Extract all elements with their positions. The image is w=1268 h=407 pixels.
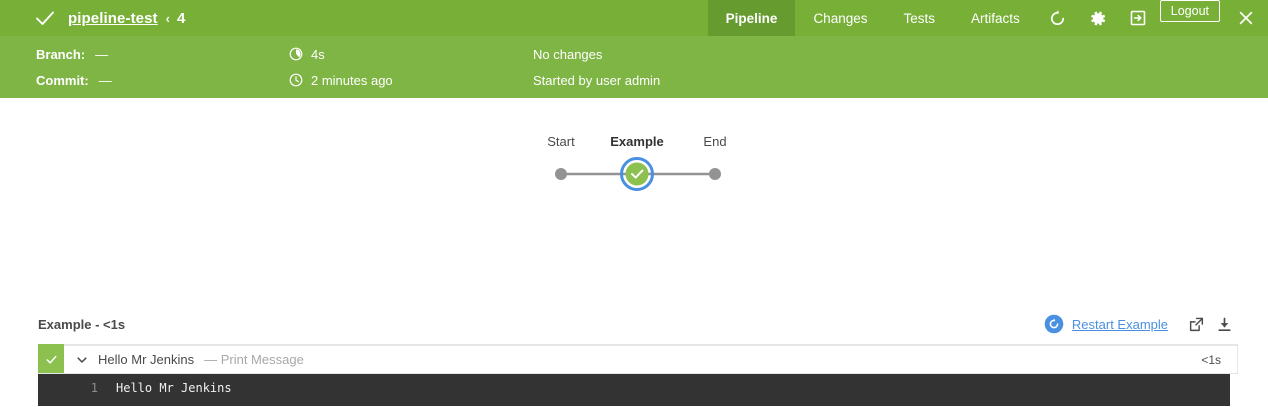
tab-pipeline[interactable]: Pipeline — [708, 0, 796, 36]
stage-label-end: End — [703, 134, 726, 149]
step-name: Hello Mr Jenkins — [98, 352, 194, 367]
branch-value: — — [95, 47, 108, 62]
settings-button[interactable] — [1078, 0, 1118, 36]
changes-row: No changes — [533, 41, 1268, 67]
close-button[interactable] — [1224, 0, 1268, 36]
log-section: Example - <1s Restart Example — [0, 304, 1268, 406]
log-header: Example - <1s Restart Example — [0, 304, 1268, 344]
run-info-bar: Branch: — Commit: — 4s 2 minutes ago No … — [0, 36, 1268, 98]
step-duration: <1s — [1201, 346, 1238, 373]
open-log-external-button[interactable] — [1182, 313, 1210, 335]
check-icon — [34, 7, 56, 29]
duration-row: 4s — [289, 41, 533, 67]
run-header-left: pipeline-test ‹ 4 — [0, 0, 708, 36]
graph-node-end[interactable] — [709, 168, 721, 180]
start-time-row: 2 minutes ago — [289, 67, 533, 93]
run-header: pipeline-test ‹ 4 Pipeline Changes Tests… — [0, 0, 1268, 36]
console-output[interactable]: 1 Hello Mr Jenkins — [38, 374, 1230, 406]
run-id: 4 — [177, 10, 185, 27]
step-row[interactable]: Hello Mr Jenkins — Print Message <1s — [38, 346, 1238, 374]
changes-text: No changes — [533, 47, 602, 62]
console-line-text: Hello Mr Jenkins — [106, 380, 232, 396]
graph-node-example[interactable] — [626, 163, 649, 186]
commit-value: — — [99, 73, 112, 88]
close-icon — [1237, 9, 1255, 27]
external-link-icon — [1188, 316, 1205, 333]
graph-node-start[interactable] — [555, 168, 567, 180]
info-column-timing: 4s 2 minutes ago — [289, 36, 533, 98]
replay-icon — [1048, 9, 1067, 28]
restart-circle-icon[interactable] — [1044, 314, 1064, 334]
cause-row: Started by user admin — [533, 67, 1268, 93]
pipeline-name-link[interactable]: pipeline-test — [68, 10, 158, 27]
run-header-right: Pipeline Changes Tests Artifacts Logout — [708, 0, 1268, 36]
stage-label-start: Start — [547, 134, 574, 149]
pipeline-graph: Start Example End — [539, 134, 729, 194]
check-icon — [45, 353, 58, 366]
start-time-value: 2 minutes ago — [311, 73, 393, 88]
chevron-down-icon[interactable] — [76, 354, 88, 366]
log-header-divider — [38, 344, 1238, 346]
cause-text: Started by user admin — [533, 73, 660, 88]
clock-icon — [289, 73, 303, 87]
download-log-button[interactable] — [1210, 313, 1238, 335]
gear-icon — [1088, 9, 1107, 28]
commit-row: Commit: — — [36, 67, 289, 93]
console-line-number: 1 — [38, 380, 106, 396]
duration-value: 4s — [311, 47, 325, 62]
branch-label: Branch: — [36, 47, 85, 62]
pipeline-graph-svg — [539, 154, 729, 194]
login-arrow-icon — [1129, 9, 1147, 27]
step-body[interactable]: Hello Mr Jenkins — Print Message — [64, 346, 1201, 373]
console-line: 1 Hello Mr Jenkins — [38, 380, 1230, 396]
tab-artifacts[interactable]: Artifacts — [953, 0, 1038, 36]
duration-icon — [289, 47, 303, 61]
breadcrumb-separator: ‹ — [166, 11, 170, 26]
rerun-button[interactable] — [1038, 0, 1078, 36]
step-status — [38, 346, 64, 373]
login-button[interactable] — [1118, 0, 1158, 36]
info-column-source: Branch: — Commit: — — [36, 36, 289, 98]
tab-tests[interactable]: Tests — [885, 0, 953, 36]
info-column-cause: No changes Started by user admin — [533, 36, 1268, 98]
step-type: — Print Message — [204, 352, 304, 367]
log-actions: Restart Example — [1044, 313, 1238, 335]
log-title: Example - <1s — [38, 317, 1044, 332]
pipeline-graph-area: Start Example End — [0, 98, 1268, 304]
commit-label: Commit: — [36, 73, 89, 88]
download-icon — [1216, 316, 1233, 333]
logout-button[interactable]: Logout — [1160, 0, 1220, 22]
restart-stage-link[interactable]: Restart Example — [1072, 317, 1168, 332]
pipeline-graph-wrapper: Start Example End — [0, 134, 1268, 194]
stage-label-example[interactable]: Example — [610, 134, 663, 149]
tab-changes[interactable]: Changes — [795, 0, 885, 36]
branch-row: Branch: — — [36, 41, 289, 67]
